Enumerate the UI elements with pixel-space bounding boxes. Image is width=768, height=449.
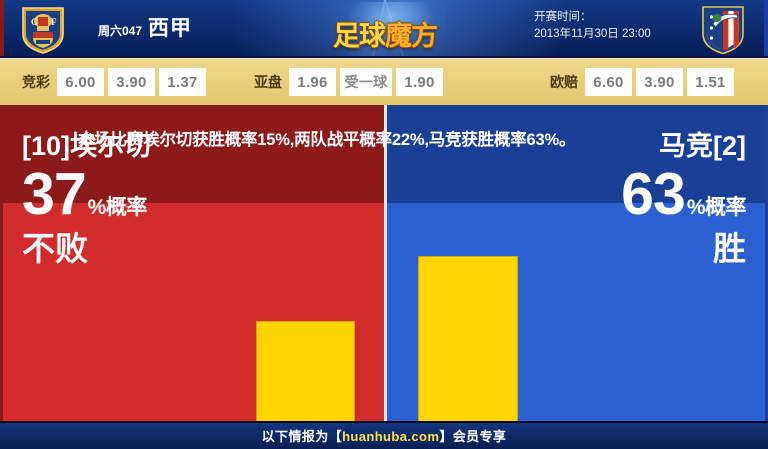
odds-cell-draw[interactable]: 3.90 bbox=[636, 68, 683, 96]
league-name-label: 西甲 bbox=[148, 12, 192, 42]
footer-top-rule bbox=[0, 421, 768, 423]
odds-cell-home[interactable]: 6.00 bbox=[57, 68, 104, 96]
odds-cell-handicap[interactable]: 受一球 bbox=[340, 68, 392, 96]
left-edge bbox=[0, 105, 3, 421]
kickoff-label: 开赛时间： bbox=[534, 9, 651, 26]
logo-text: 足球魔方 bbox=[323, 14, 447, 53]
header-right-edge bbox=[764, 0, 768, 58]
odds-group-label: 亚盘 bbox=[254, 68, 285, 96]
odds-cell-home[interactable]: 1.96 bbox=[289, 68, 336, 96]
header-bar: C F 周六047 西甲 bbox=[0, 0, 768, 58]
home-percent-row: 37 %概率 bbox=[22, 165, 151, 224]
odds-group-asian-handicap: 亚盘 1.96 受一球 1.90 bbox=[254, 68, 443, 96]
footer-brand[interactable]: huanhuba.com bbox=[342, 429, 439, 444]
odds-cell-away[interactable]: 1.51 bbox=[687, 68, 734, 96]
odds-group-label: 欧赔 bbox=[550, 68, 581, 96]
odds-bar: 竞彩 6.00 3.90 1.37 亚盘 1.96 受一球 1.90 欧赔 6.… bbox=[0, 58, 768, 105]
footer-text: 以下情报为【huanhuba.com】会员专享 bbox=[262, 426, 507, 445]
odds-cell-draw[interactable]: 3.90 bbox=[108, 68, 155, 96]
footer-prefix: 以下情报为【 bbox=[262, 429, 342, 444]
site-logo[interactable]: 足球魔方 bbox=[323, 2, 447, 56]
odds-group-label: 竞彩 bbox=[22, 68, 53, 96]
svg-text:F: F bbox=[51, 17, 57, 27]
probability-chart: [10]埃尔切 37 %概率 不败 马竞[2] 63 %概率 胜 bbox=[0, 105, 768, 421]
kickoff-info: 开赛时间： 2013年11月30日 23:00 bbox=[534, 9, 651, 43]
match-preview-graphic: C F 周六047 西甲 bbox=[0, 0, 768, 449]
home-percent-value: 37 bbox=[22, 165, 86, 224]
home-percent-suffix: %概率 bbox=[88, 197, 147, 218]
header-left-edge bbox=[0, 0, 4, 58]
elche-cf-crest-icon: C F bbox=[20, 4, 66, 54]
footer-bar: 以下情报为【huanhuba.com】会员专享 bbox=[0, 421, 768, 449]
away-percent-suffix: %概率 bbox=[687, 197, 746, 218]
logo-text-part2: 魔方 bbox=[385, 21, 437, 51]
league-title: 周六047 西甲 bbox=[98, 12, 192, 42]
kickoff-value: 2013年11月30日 23:00 bbox=[534, 26, 651, 43]
match-round-label: 周六047 bbox=[98, 22, 142, 39]
odds-cell-away[interactable]: 1.37 bbox=[159, 68, 206, 96]
away-percent-row: 63 %概率 bbox=[621, 165, 746, 224]
odds-group-european: 欧赔 6.60 3.90 1.51 bbox=[550, 68, 734, 96]
odds-group-jingcai: 竞彩 6.00 3.90 1.37 bbox=[22, 68, 206, 96]
away-percent-value: 63 bbox=[621, 165, 685, 224]
away-verdict: 胜 bbox=[621, 228, 746, 270]
odds-cell-home[interactable]: 6.60 bbox=[585, 68, 632, 96]
away-probability-bar bbox=[418, 256, 518, 421]
footer-suffix: 】会员专享 bbox=[439, 429, 506, 444]
probability-summary-text: 本场比赛埃尔切获胜概率15%,两队战平概率22%,马竞获胜概率63%。 bbox=[78, 125, 708, 156]
home-verdict: 不败 bbox=[22, 228, 151, 270]
atletico-madrid-crest-icon bbox=[700, 4, 746, 54]
logo-text-part1: 足球 bbox=[333, 21, 385, 51]
home-probability-bar bbox=[256, 321, 355, 421]
odds-cell-away[interactable]: 1.90 bbox=[396, 68, 443, 96]
svg-text:C: C bbox=[31, 17, 38, 27]
